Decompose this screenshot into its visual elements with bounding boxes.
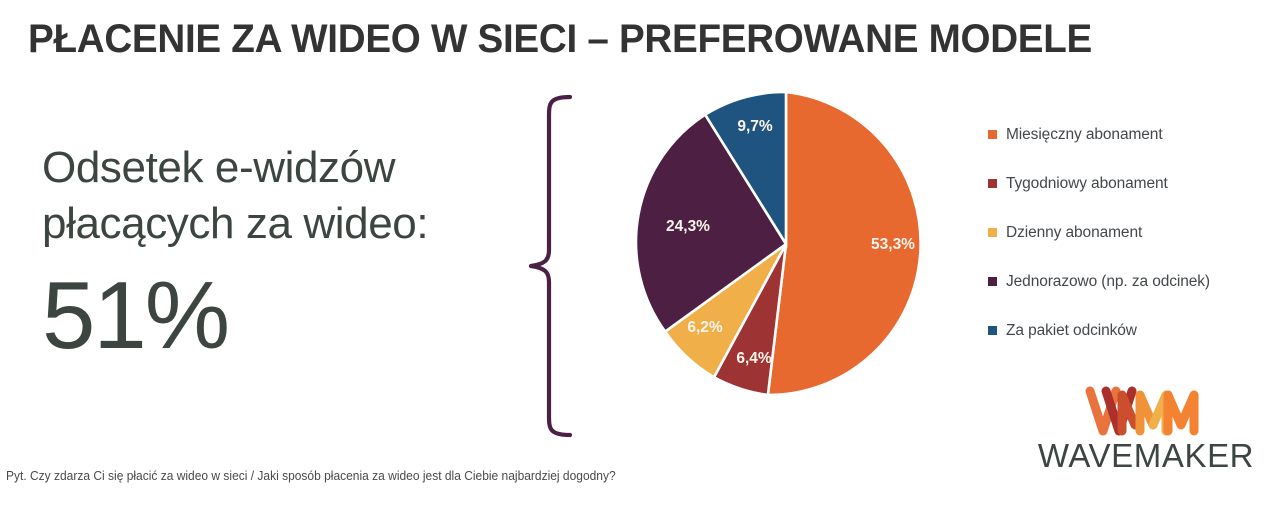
legend-item-miesieczny-abonament[interactable]: Miesięczny abonament bbox=[988, 110, 1268, 159]
pie-label-jednorazowo: 24,3% bbox=[666, 218, 710, 235]
callout-line-2: płacących za wideo: bbox=[42, 196, 512, 252]
wavemaker-logo: WAVEMAKER bbox=[1022, 385, 1270, 493]
page-title: PŁACENIE ZA WIDEO W SIECI – PREFEROWANE … bbox=[28, 16, 1205, 62]
legend-swatch-icon bbox=[988, 130, 997, 139]
callout-line-1: Odsetek e-widzów bbox=[42, 140, 512, 196]
pie-label-za-pakiet-odcinkow: 9,7% bbox=[737, 118, 773, 135]
legend-swatch-icon bbox=[988, 179, 997, 188]
wm-monogram-svg bbox=[1082, 385, 1202, 437]
legend-label: Tygodniowy abonament bbox=[1006, 175, 1168, 193]
legend-label: Za pakiet odcinków bbox=[1006, 322, 1137, 340]
legend-swatch-icon bbox=[988, 326, 997, 335]
pie-label-tygodniowy-abonament: 6,4% bbox=[736, 350, 772, 367]
chart-legend: Miesięczny abonament Tygodniowy abonamen… bbox=[988, 110, 1268, 355]
wavemaker-wordmark: WAVEMAKER bbox=[1022, 437, 1270, 475]
pie-label-miesieczny-abonament: 53,3% bbox=[871, 236, 915, 253]
pie-label-dzienny-abonament: 6,2% bbox=[687, 319, 723, 336]
legend-label: Miesięczny abonament bbox=[1006, 126, 1163, 144]
legend-swatch-icon bbox=[988, 228, 997, 237]
pie-chart: 53,3% 6,4% 6,2% 24,3% 9,7% bbox=[628, 86, 944, 402]
legend-item-dzienny-abonament[interactable]: Dzienny abonament bbox=[988, 208, 1268, 257]
curly-brace-decoration bbox=[528, 92, 592, 440]
legend-label: Dzienny abonament bbox=[1006, 224, 1142, 242]
legend-item-za-pakiet-odcinkow[interactable]: Za pakiet odcinków bbox=[988, 306, 1268, 355]
legend-label: Jednorazowo (np. za odcinek) bbox=[1006, 273, 1210, 291]
legend-item-tygodniowy-abonament[interactable]: Tygodniowy abonament bbox=[988, 159, 1268, 208]
legend-item-jednorazowo[interactable]: Jednorazowo (np. za odcinek) bbox=[988, 257, 1268, 306]
callout-block: Odsetek e-widzów płacących za wideo: 51% bbox=[42, 140, 512, 367]
source-footnote: Pyt. Czy zdarza Ci się płacić za wideo w… bbox=[6, 469, 616, 483]
legend-swatch-icon bbox=[988, 277, 997, 286]
callout-statistic: 51% bbox=[42, 266, 512, 367]
wavemaker-monogram-icon bbox=[1082, 385, 1202, 437]
curly-brace-icon bbox=[528, 92, 592, 440]
pie-chart-svg: 53,3% 6,4% 6,2% 24,3% 9,7% bbox=[628, 86, 944, 402]
